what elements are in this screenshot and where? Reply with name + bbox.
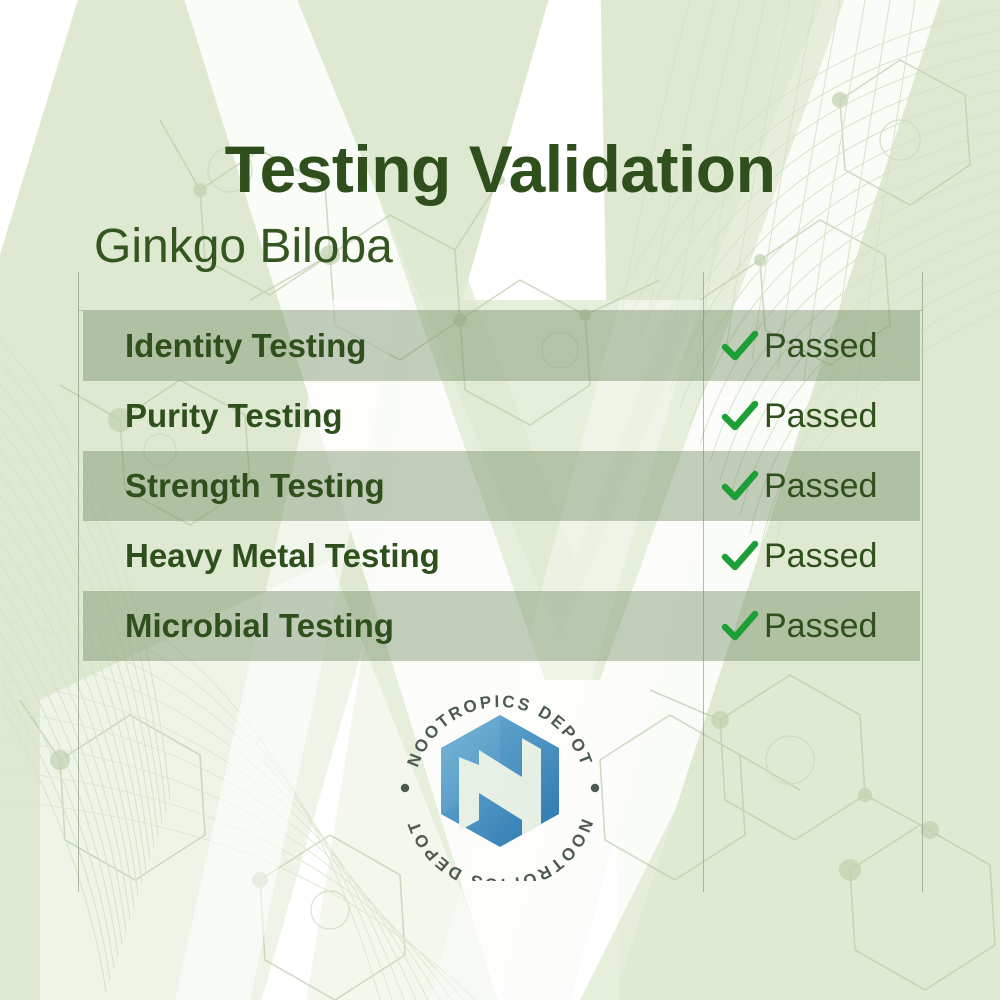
result-label: Passed xyxy=(764,609,877,643)
table-row: Identity Testing Passed xyxy=(83,311,920,381)
result-label: Passed xyxy=(764,539,877,573)
test-result: Passed xyxy=(720,326,877,366)
test-result: Passed xyxy=(720,536,877,576)
page-title: Testing Validation xyxy=(0,136,1000,202)
table-right-divider xyxy=(922,272,923,892)
test-result: Passed xyxy=(720,466,877,506)
logo-dot-left xyxy=(401,784,409,792)
check-icon xyxy=(720,536,760,576)
check-icon xyxy=(720,606,760,646)
test-result: Passed xyxy=(720,396,877,436)
table-row: Purity Testing Passed xyxy=(83,381,920,451)
test-name: Strength Testing xyxy=(125,467,385,505)
table-left-divider xyxy=(78,272,79,892)
test-name: Heavy Metal Testing xyxy=(125,537,440,575)
test-name: Identity Testing xyxy=(125,327,366,365)
table-row: Microbial Testing Passed xyxy=(83,591,920,661)
logo-dot-right xyxy=(591,784,599,792)
test-name: Purity Testing xyxy=(125,397,343,435)
nootropics-depot-logo: NOOTROPICS DEPOT NOOTROPICS DEPOT xyxy=(389,689,611,881)
test-result: Passed xyxy=(720,606,877,646)
logo-monogram xyxy=(441,715,559,847)
check-icon xyxy=(720,466,760,506)
check-icon xyxy=(720,396,760,436)
result-label: Passed xyxy=(764,399,877,433)
result-label: Passed xyxy=(764,469,877,503)
test-name: Microbial Testing xyxy=(125,607,394,645)
table-row: Heavy Metal Testing Passed xyxy=(83,521,920,591)
testing-validation-card: Testing Validation Ginkgo Biloba Identit… xyxy=(0,0,1000,1000)
table-row: Strength Testing Passed xyxy=(83,451,920,521)
product-name: Ginkgo Biloba xyxy=(94,223,393,271)
result-label: Passed xyxy=(764,329,877,363)
check-icon xyxy=(720,326,760,366)
